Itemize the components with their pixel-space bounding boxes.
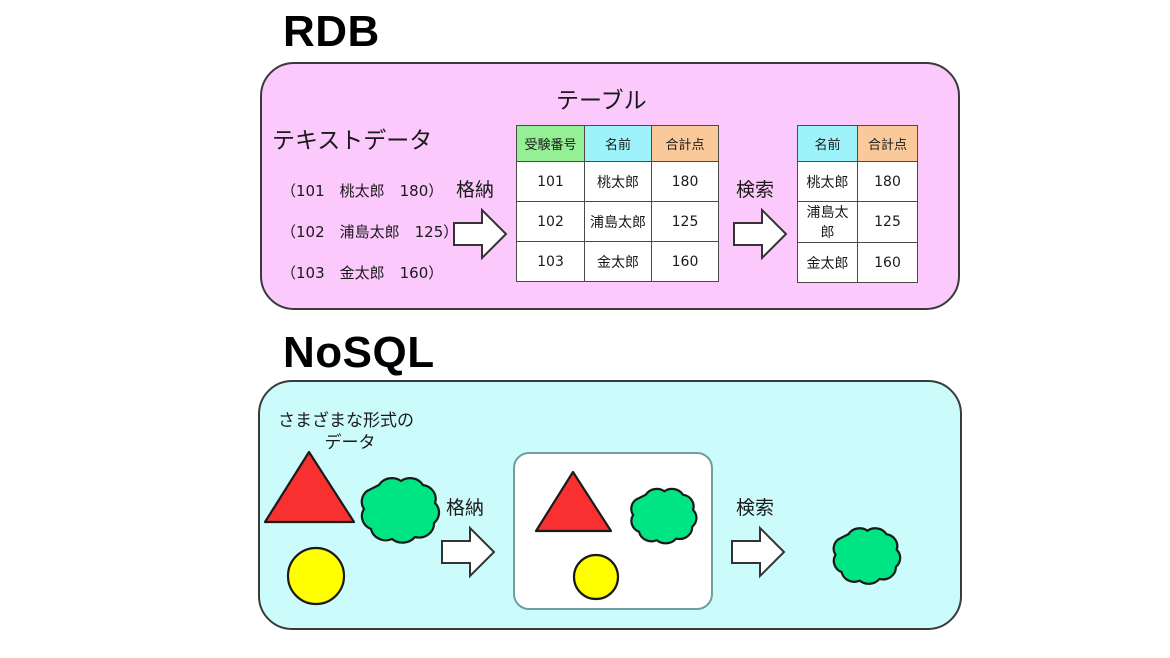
shape-circle: [285, 545, 347, 607]
table-row: 103 金太郎 160: [517, 242, 719, 282]
right-block-arrow-icon: [440, 525, 496, 579]
shape-triangle: [533, 468, 615, 536]
table-cell: 180: [858, 162, 918, 202]
table-row: 桃太郎 180: [798, 162, 918, 202]
table-header-row: 名前 合計点: [798, 126, 918, 162]
table-header-cell: 受験番号: [517, 126, 585, 162]
table-cell: 金太郎: [798, 243, 858, 283]
shape-cloud: [618, 483, 704, 557]
table-cell: 125: [652, 202, 719, 242]
table-cell: 102: [517, 202, 585, 242]
rdb-search-arrow-label: 検索: [736, 178, 774, 204]
shape-triangle: [262, 448, 358, 528]
nosql-data-label-line1: さまざまな形式の: [278, 410, 414, 433]
nosql-search-arrow-label: 検索: [736, 496, 774, 522]
right-block-arrow-icon: [730, 525, 786, 579]
right-block-arrow-icon: [732, 207, 788, 261]
rdb-record-line: （102 浦島太郎 125）: [281, 221, 458, 242]
right-block-arrow-icon: [452, 207, 508, 261]
table-header-cell: 名前: [585, 126, 652, 162]
rdb-record-line: （101 桃太郎 180）: [281, 180, 443, 201]
rdb-store-arrow-label: 格納: [456, 178, 494, 204]
table-cell: 桃太郎: [798, 162, 858, 202]
rdb-table-title: テーブル: [556, 86, 647, 117]
table-cell: 180: [652, 162, 719, 202]
table-header-row: 受験番号 名前 合計点: [517, 126, 719, 162]
table-row: 101 桃太郎 180: [517, 162, 719, 202]
table-cell: 101: [517, 162, 585, 202]
nosql-store-arrow-label: 格納: [446, 496, 484, 522]
table-cell: 160: [652, 242, 719, 282]
rdb-main-table: 受験番号 名前 合計点 101 桃太郎 180 102 浦島太郎 125 103…: [516, 125, 719, 282]
rdb-result-table: 名前 合計点 桃太郎 180 浦島太郎 125 金太郎 160: [797, 125, 918, 283]
table-cell: 103: [517, 242, 585, 282]
table-row: 102 浦島太郎 125: [517, 202, 719, 242]
rdb-record-line: （103 金太郎 160）: [281, 262, 443, 283]
table-cell: 桃太郎: [585, 162, 652, 202]
table-row: 浦島太郎 125: [798, 202, 918, 243]
shape-circle: [571, 552, 621, 602]
shape-cloud: [346, 472, 448, 558]
table-header-cell: 合計点: [652, 126, 719, 162]
rdb-text-data-label: テキストデータ: [272, 126, 432, 157]
table-header-cell: 名前: [798, 126, 858, 162]
table-cell: 金太郎: [585, 242, 652, 282]
table-cell: 浦島太郎: [585, 202, 652, 242]
table-cell: 浦島太郎: [798, 202, 858, 243]
table-cell: 125: [858, 202, 918, 243]
table-cell: 160: [858, 243, 918, 283]
nosql-section-title: NoSQL: [283, 331, 435, 375]
table-row: 金太郎 160: [798, 243, 918, 283]
shape-cloud: [820, 523, 908, 597]
rdb-section-title: RDB: [283, 10, 380, 54]
table-header-cell: 合計点: [858, 126, 918, 162]
